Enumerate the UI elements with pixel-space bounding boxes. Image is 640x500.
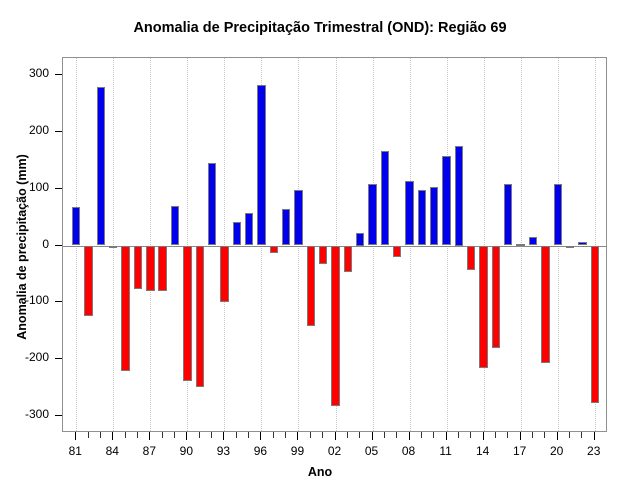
x-tick-label: 02 xyxy=(320,444,350,458)
y-tick-label: 200 xyxy=(9,123,49,137)
x-tick-label: 99 xyxy=(282,444,312,458)
x-tick-mark xyxy=(483,432,484,440)
bar-1982 xyxy=(84,246,92,316)
x-tick-label: 14 xyxy=(468,444,498,458)
x-tick-label: 08 xyxy=(394,444,424,458)
x-tick-mark xyxy=(458,432,459,438)
bar-2000 xyxy=(307,246,315,326)
bar-2001 xyxy=(319,246,327,264)
bar-1984 xyxy=(109,246,117,248)
x-tick-mark xyxy=(223,432,224,440)
bar-1994 xyxy=(233,222,241,246)
bar-1997 xyxy=(270,246,278,253)
x-tick-mark xyxy=(569,432,570,438)
x-tick-mark xyxy=(433,432,434,438)
x-tick-mark xyxy=(137,432,138,438)
x-tick-mark xyxy=(211,432,212,438)
y-tick-mark xyxy=(55,131,62,132)
x-tick-mark xyxy=(544,432,545,438)
x-tick-mark xyxy=(594,432,595,440)
x-tick-mark xyxy=(260,432,261,440)
x-tick-mark xyxy=(470,432,471,438)
x-tick-label: 20 xyxy=(542,444,572,458)
bar-2018 xyxy=(529,237,537,246)
bar-2013 xyxy=(467,246,475,270)
bar-2015 xyxy=(492,246,500,349)
x-axis-label: Ano xyxy=(0,465,640,479)
x-tick-label: 93 xyxy=(208,444,238,458)
x-tick-mark xyxy=(372,432,373,440)
bar-2019 xyxy=(541,246,549,363)
bar-1983 xyxy=(97,87,105,246)
plot-area xyxy=(62,57,607,432)
y-tick-label: -200 xyxy=(9,350,49,364)
x-tick-label: 17 xyxy=(505,444,535,458)
bar-2016 xyxy=(504,184,512,245)
x-tick-label: 84 xyxy=(97,444,127,458)
y-tick-mark xyxy=(55,358,62,359)
bar-2022 xyxy=(578,242,586,245)
x-tick-mark xyxy=(149,432,150,440)
gridline-vertical xyxy=(150,58,151,431)
y-tick-mark xyxy=(55,188,62,189)
bar-1989 xyxy=(171,206,179,245)
bar-2008 xyxy=(405,181,413,245)
x-tick-mark xyxy=(248,432,249,438)
bar-1990 xyxy=(183,246,191,382)
x-tick-label: 81 xyxy=(60,444,90,458)
x-tick-mark xyxy=(446,432,447,440)
y-tick-mark xyxy=(55,74,62,75)
bar-2005 xyxy=(368,184,376,246)
x-tick-mark xyxy=(273,432,274,438)
x-tick-mark xyxy=(186,432,187,440)
bar-2009 xyxy=(418,190,426,245)
bar-1985 xyxy=(121,246,129,371)
x-tick-mark xyxy=(581,432,582,438)
x-tick-mark xyxy=(75,432,76,440)
bar-2017 xyxy=(516,244,524,246)
x-tick-label: 96 xyxy=(245,444,275,458)
bar-2023 xyxy=(591,246,599,403)
y-tick-mark xyxy=(55,415,62,416)
gridline-vertical xyxy=(113,58,114,431)
x-tick-mark xyxy=(335,432,336,440)
x-tick-mark xyxy=(125,432,126,438)
x-tick-mark xyxy=(557,432,558,440)
y-tick-label: -300 xyxy=(9,407,49,421)
y-tick-label: 100 xyxy=(9,180,49,194)
x-tick-mark xyxy=(359,432,360,438)
x-tick-label: 23 xyxy=(579,444,609,458)
x-tick-mark xyxy=(162,432,163,438)
bar-2011 xyxy=(442,156,450,245)
x-tick-mark xyxy=(88,432,89,438)
x-tick-mark xyxy=(199,432,200,438)
gridline-vertical xyxy=(484,58,485,431)
x-tick-label: 90 xyxy=(171,444,201,458)
y-tick-label: 300 xyxy=(9,66,49,80)
x-tick-mark xyxy=(285,432,286,438)
bar-1986 xyxy=(134,246,142,290)
bar-1987 xyxy=(146,246,154,291)
y-tick-mark xyxy=(55,301,62,302)
x-tick-mark xyxy=(421,432,422,438)
x-tick-mark xyxy=(409,432,410,440)
plot-inner xyxy=(63,58,606,431)
x-tick-label: 87 xyxy=(134,444,164,458)
bar-1996 xyxy=(257,85,265,245)
bar-2010 xyxy=(430,187,438,246)
y-tick-label: 0 xyxy=(9,237,49,251)
x-tick-mark xyxy=(532,432,533,438)
x-tick-mark xyxy=(236,432,237,438)
y-tick-mark xyxy=(55,245,62,246)
bar-2014 xyxy=(479,246,487,368)
x-tick-mark xyxy=(322,432,323,438)
bar-2003 xyxy=(344,246,352,272)
bar-1988 xyxy=(158,246,166,291)
x-tick-mark xyxy=(100,432,101,438)
bar-2007 xyxy=(393,246,401,258)
bar-1999 xyxy=(294,190,302,245)
x-tick-mark xyxy=(310,432,311,438)
x-tick-label: 05 xyxy=(357,444,387,458)
bar-2006 xyxy=(381,151,389,245)
x-tick-mark xyxy=(174,432,175,438)
x-tick-mark xyxy=(384,432,385,438)
bar-2004 xyxy=(356,233,364,246)
bar-1992 xyxy=(208,163,216,246)
x-tick-mark xyxy=(495,432,496,438)
y-tick-label: -100 xyxy=(9,293,49,307)
bar-1993 xyxy=(220,246,228,302)
bar-2021 xyxy=(566,246,574,248)
bar-1995 xyxy=(245,213,253,246)
x-tick-mark xyxy=(396,432,397,438)
x-tick-mark xyxy=(347,432,348,438)
page-title: Anomalia de Precipitação Trimestral (OND… xyxy=(0,20,640,36)
bar-1998 xyxy=(282,209,290,246)
bar-2002 xyxy=(331,246,339,406)
x-tick-mark xyxy=(507,432,508,438)
bar-1991 xyxy=(196,246,204,387)
bar-2020 xyxy=(554,184,562,245)
x-tick-label: 11 xyxy=(431,444,461,458)
bar-1981 xyxy=(72,207,80,245)
bar-2012 xyxy=(455,146,463,246)
gridline-vertical xyxy=(224,58,225,431)
x-tick-mark xyxy=(297,432,298,440)
x-tick-mark xyxy=(112,432,113,440)
x-tick-mark xyxy=(520,432,521,440)
precipitation-anomaly-chart: Anomalia de Precipitação Trimestral (OND… xyxy=(0,0,640,500)
